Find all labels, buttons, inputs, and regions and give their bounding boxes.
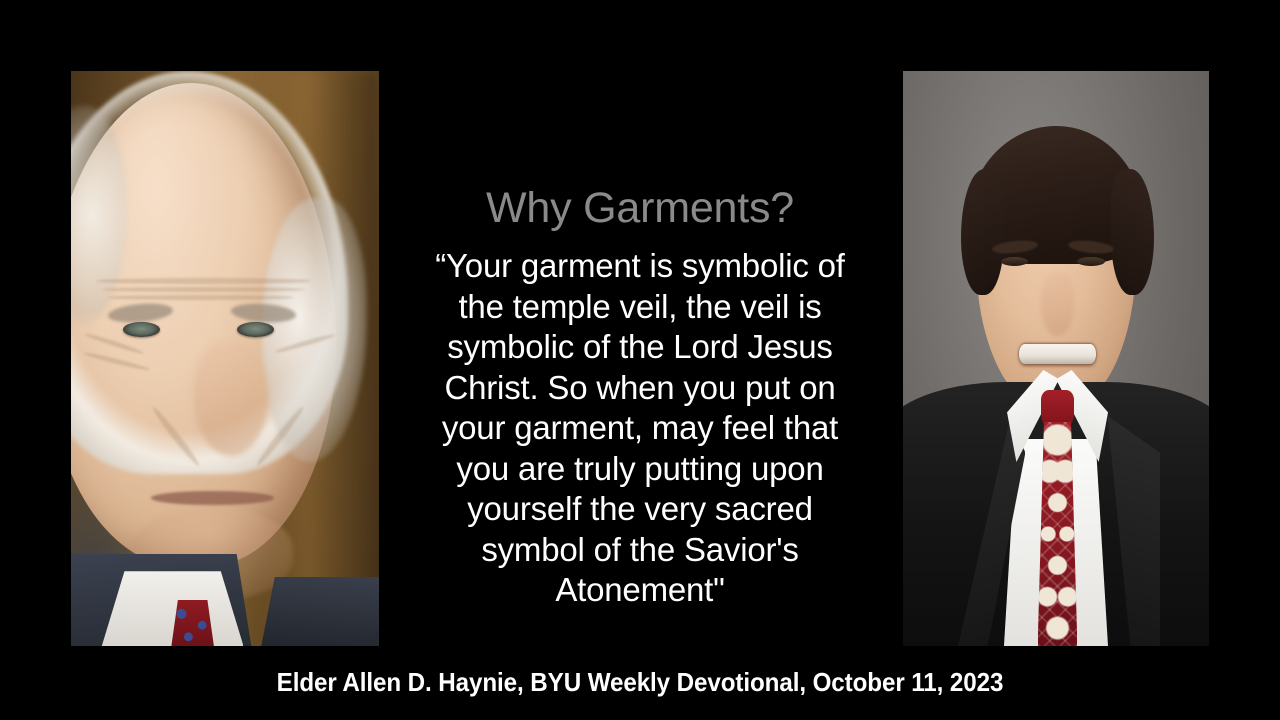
left-nose [194, 341, 268, 456]
right-hair-left-side [961, 169, 1004, 296]
left-dress-shirt [102, 571, 244, 646]
left-forehead-line-1 [96, 278, 312, 284]
right-smile [1019, 344, 1096, 364]
slide-title: Why Garments? [420, 185, 860, 232]
portrait-right-artwork [903, 71, 1209, 646]
slide-canvas: Why Garments? “Your garment is symbolic … [0, 0, 1280, 720]
left-suit-shoulder [261, 577, 379, 646]
portrait-left-artwork [71, 71, 379, 646]
right-nose [1041, 272, 1075, 335]
left-forehead-line-3 [108, 295, 293, 300]
quote-text: “Your garment is symbolic of the temple … [420, 246, 860, 611]
right-necktie-pattern [1038, 422, 1078, 646]
center-text-column: Why Garments? “Your garment is symbolic … [420, 185, 860, 611]
attribution-caption: Elder Allen D. Haynie, BYU Weekly Devoti… [45, 667, 1235, 698]
left-mouth [151, 491, 274, 505]
portrait-photo-right [903, 71, 1209, 646]
portrait-photo-left [71, 71, 379, 646]
